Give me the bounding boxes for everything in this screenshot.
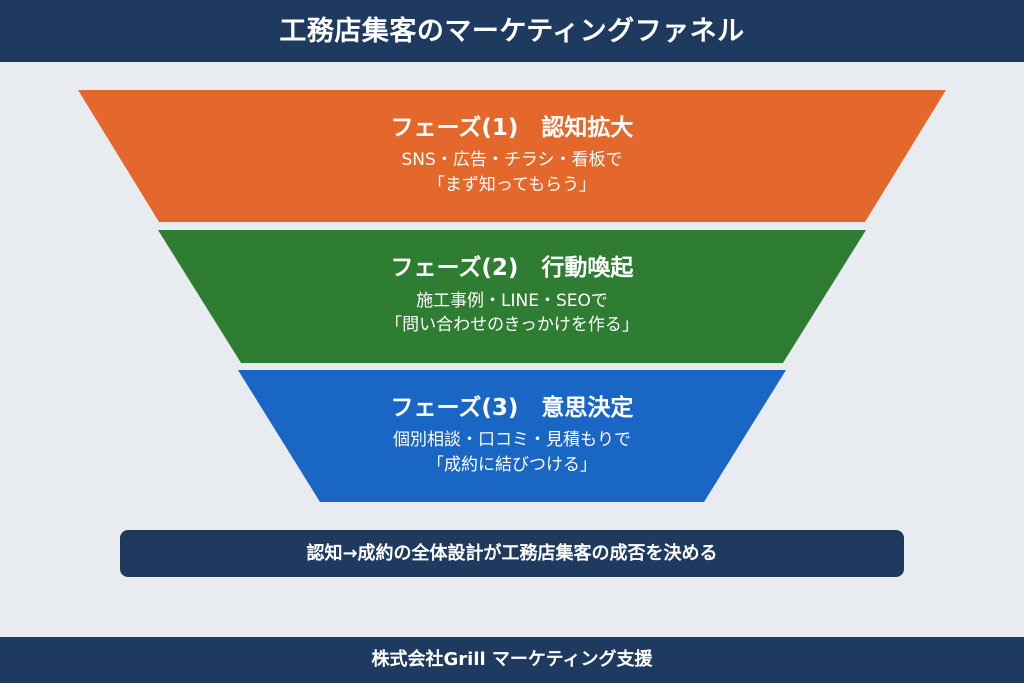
funnel-diagram: フェーズ(1) 認知拡大 SNS・広告・チラシ・看板で 「まず知ってもらう」 フ… [0, 62, 1024, 517]
summary-banner-text: 認知→成約の全体設計が工務店集客の成否を決める [306, 545, 717, 563]
funnel-stage-2-line1: 施工事例・LINE・SEOで [416, 289, 608, 314]
funnel-stage-3: フェーズ(3) 意思決定 個別相談・口コミ・見積もりで 「成約に結びつける」 [0, 370, 1024, 502]
funnel-stage-1-line2: 「まず知ってもらう」 [428, 173, 596, 198]
page-title: 工務店集客のマーケティングファネル [279, 18, 744, 45]
funnel-stage-2-line2: 「問い合わせのきっかけを作る」 [385, 313, 639, 338]
funnel-stage-1-heading: フェーズ(1) 認知拡大 [391, 115, 634, 141]
funnel-stage-1: フェーズ(1) 認知拡大 SNS・広告・チラシ・看板で 「まず知ってもらう」 [0, 90, 1024, 222]
page-footer: 株式会社Grill マーケティング支援 [0, 637, 1024, 683]
funnel-stage-1-line1: SNS・広告・チラシ・看板で [402, 148, 623, 173]
page-header: 工務店集客のマーケティングファネル [0, 0, 1024, 62]
funnel-stage-2-heading: フェーズ(2) 行動喚起 [391, 255, 634, 281]
funnel-stage-3-heading: フェーズ(3) 意思決定 [391, 395, 634, 421]
funnel-stage-3-line2: 「成約に結びつける」 [427, 453, 597, 478]
funnel-stage-3-line1: 個別相談・口コミ・見積もりで [393, 428, 631, 453]
footer-credit: 株式会社Grill マーケティング支援 [372, 651, 653, 669]
funnel-stage-2: フェーズ(2) 行動喚起 施工事例・LINE・SEOで 「問い合わせのきっかけを… [0, 230, 1024, 363]
funnel-infographic: 工務店集客のマーケティングファネル フェーズ(1) 認知拡大 SNS・広告・チラ… [0, 0, 1024, 683]
summary-banner: 認知→成約の全体設計が工務店集客の成否を決める [120, 530, 904, 577]
